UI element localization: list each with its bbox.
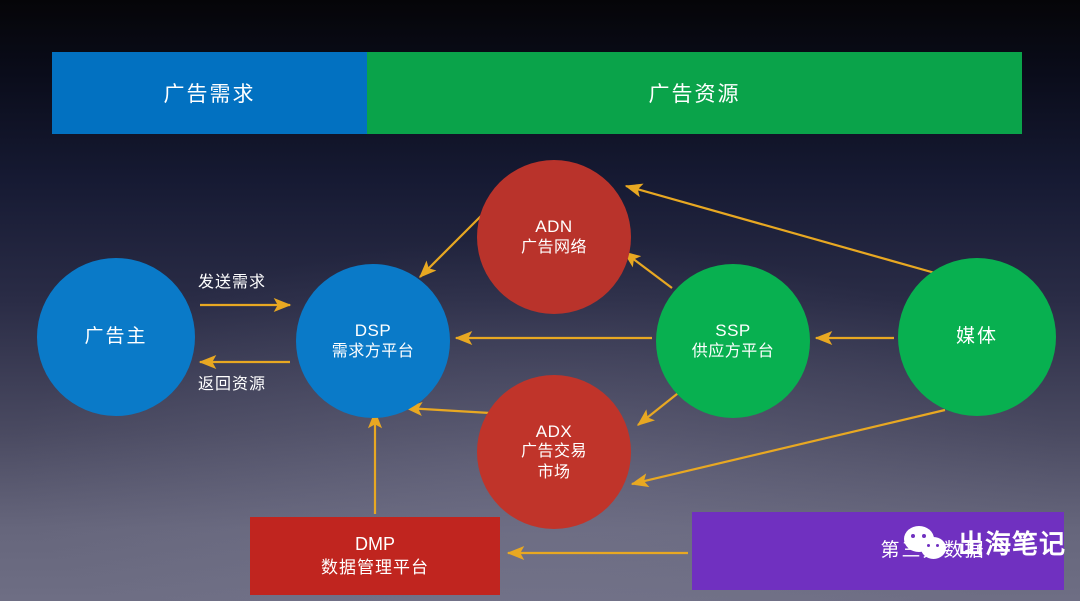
header-bar-demand: 广告需求 [52,52,367,134]
node-adx[interactable]: ADX 广告交易 市场 [477,375,631,529]
edge-label-return-resource: 返回资源 [198,370,266,394]
slide-canvas: 广告需求 广告资源 [0,0,1080,601]
node-media[interactable]: 媒体 [898,258,1056,416]
node-ssp[interactable]: SSP 供应方平台 [656,264,810,418]
node-advertiser[interactable]: 广告主 [37,258,195,416]
node-dsp[interactable]: DSP 需求方平台 [296,264,450,418]
node-dsp-label: 需求方平台 [332,342,415,362]
header-bar-demand-label: 广告需求 [164,78,256,108]
node-dmp-label: 数据管理平台 [321,557,429,579]
node-adx-acronym: ADX [536,421,572,443]
node-adn-label: 广告网络 [521,238,587,258]
arrow-ssp-to-adx [638,390,682,425]
watermark: 出海笔记 [904,524,1066,561]
arrow-media-to-adn [626,186,935,273]
node-adx-label: 广告交易 [521,442,587,462]
node-dmp-acronym: DMP [355,533,395,556]
header-bar-supply-label: 广告资源 [649,78,741,108]
arrow-media-to-adx [632,410,945,484]
header-bar-supply: 广告资源 [367,52,1022,134]
node-ssp-label: 供应方平台 [692,342,775,362]
node-advertiser-label: 广告主 [84,325,147,349]
node-adn-acronym: ADN [535,216,572,238]
node-media-label: 媒体 [956,325,998,349]
node-adx-label-line2: 市场 [537,463,570,483]
node-dsp-acronym: DSP [355,320,391,342]
node-ssp-acronym: SSP [715,320,751,342]
node-adn[interactable]: ADN 广告网络 [477,160,631,314]
node-dmp[interactable]: DMP 数据管理平台 [250,517,500,595]
arrow-ssp-to-adn [624,252,672,288]
watermark-text: 出海笔记 [958,524,1066,561]
edge-label-send-demand: 发送需求 [198,268,266,292]
arrow-adx-to-dsp [406,408,490,413]
wechat-icon [904,526,950,560]
